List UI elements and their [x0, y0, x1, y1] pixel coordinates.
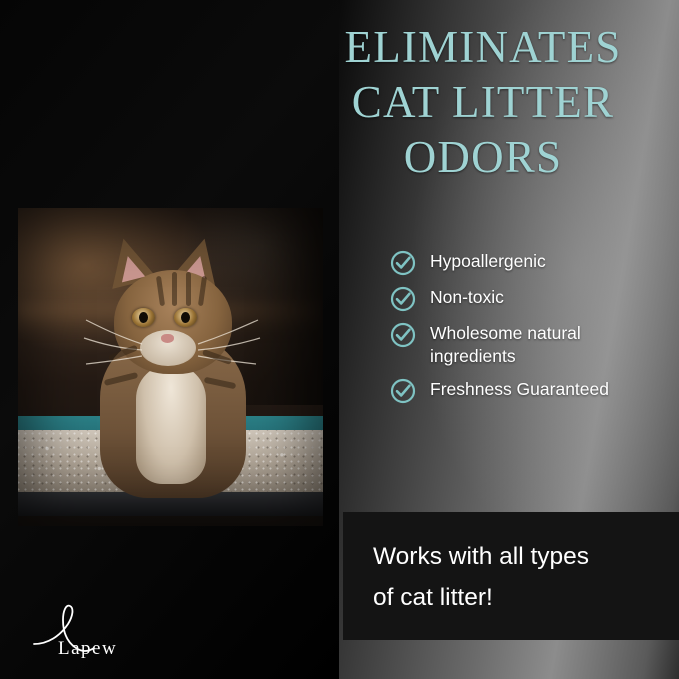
headline: ELIMINATES CAT LITTER ODORS: [296, 20, 670, 185]
feature-label: Freshness Guaranteed: [430, 378, 609, 401]
feature-label: Hypoallergenic: [430, 250, 546, 273]
tagline-line-2: of cat litter!: [373, 577, 663, 618]
tagline-box: Works with all types of cat litter!: [343, 512, 679, 640]
feature-list: Hypoallergenic Non-toxic Wholesome natur…: [390, 250, 670, 414]
product-ad-image: ELIMINATES CAT LITTER ODORS Hypoallergen…: [0, 0, 679, 679]
check-circle-icon: [390, 286, 416, 312]
headline-line-1: ELIMINATES: [296, 20, 670, 75]
feature-label: Wholesome natural ingredients: [430, 322, 662, 368]
feature-item: Hypoallergenic: [390, 250, 670, 276]
check-circle-icon: [390, 322, 416, 348]
feature-item: Freshness Guaranteed: [390, 378, 670, 404]
headline-line-2: CAT LITTER: [296, 75, 670, 130]
tagline-line-1: Works with all types: [373, 536, 663, 577]
brand-name: Lapew: [58, 638, 117, 660]
feature-item: Non-toxic: [390, 286, 670, 312]
headline-line-3: ODORS: [296, 130, 670, 185]
feature-label: Non-toxic: [430, 286, 504, 309]
check-circle-icon: [390, 250, 416, 276]
feature-item: Wholesome natural ingredients: [390, 322, 670, 368]
photo-vignette: [18, 208, 323, 526]
kitten-litter-box-photo: [18, 208, 323, 526]
tagline: Works with all types of cat litter!: [373, 536, 663, 618]
check-circle-icon: [390, 378, 416, 404]
